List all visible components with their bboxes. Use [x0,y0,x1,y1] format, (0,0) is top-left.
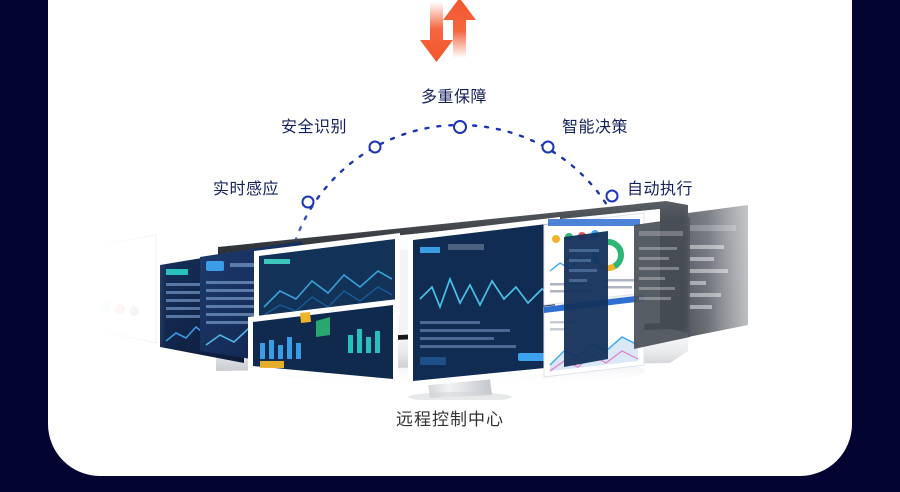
arc-node-an-quan-shi-bie[interactable] [370,142,381,153]
arc-node-duo-zhong-bao-zhang[interactable] [454,121,466,133]
dashboard-panel-9 [634,217,690,349]
dashboard-panel-8 [564,231,608,367]
white-content-card: 实时感应 安全识别 多重保障 智能决策 自动执行 [48,0,852,476]
arc-node-zhi-neng-jue-ce[interactable] [543,142,554,153]
remote-control-center-illustration [48,195,852,400]
scene-caption: 远程控制中心 [48,405,852,430]
monitor-scene [48,195,852,400]
arc-label-zhi-neng-jue-ce: 智能决策 [562,120,628,136]
arc-label-an-quan-shi-bie: 安全识别 [281,120,347,136]
arc-label-duo-zhong-bao-zhang: 多重保障 [421,90,487,106]
page-root: 实时感应 安全识别 多重保障 智能决策 自动执行 [0,0,900,492]
dashboard-panel-5 [408,217,560,387]
